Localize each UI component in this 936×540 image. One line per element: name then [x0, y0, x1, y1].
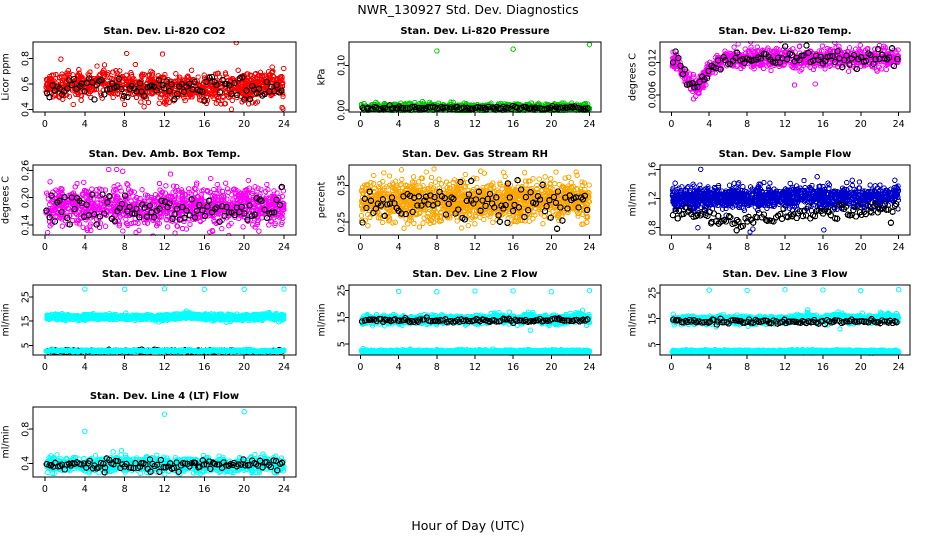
- x-tick-label: 24: [278, 242, 290, 253]
- x-tick-label: 8: [744, 242, 750, 253]
- x-tick-label: 24: [893, 119, 905, 130]
- y-axis-title: ml/min: [628, 183, 639, 216]
- x-tick-label: 12: [779, 119, 791, 130]
- x-tick-label: 12: [158, 242, 170, 253]
- y-tick-label: 0.6: [21, 76, 32, 91]
- x-tick-label: 24: [893, 362, 905, 373]
- x-tick-label: 24: [278, 119, 290, 130]
- x-tick-label: 8: [434, 362, 440, 373]
- x-tick-label: 8: [122, 484, 128, 495]
- panel-title: Stan. Dev. Li-820 Temp.: [718, 26, 851, 37]
- x-tick-label: 16: [817, 119, 829, 130]
- x-tick-label: 8: [744, 362, 750, 373]
- x-tick-label: 0: [42, 119, 48, 130]
- panel-title: Stan. Dev. Line 4 (LT) Flow: [90, 391, 239, 402]
- y-tick-label: 1.6: [648, 162, 659, 177]
- y-axis-title: ml/min: [628, 303, 639, 336]
- x-tick-label: 16: [817, 242, 829, 253]
- panel-title: Stan. Dev. Gas Stream RH: [402, 149, 548, 160]
- x-tick-label: 0: [42, 242, 48, 253]
- x-tick-label: 8: [122, 119, 128, 130]
- y-tick-label: 0.20: [21, 187, 32, 208]
- x-tick-label: 8: [434, 242, 440, 253]
- x-tick-label: 16: [198, 362, 210, 373]
- y-axis-title: kPa: [317, 69, 328, 86]
- x-tick-label: 24: [583, 362, 595, 373]
- y-axis-title: ml/min: [317, 303, 328, 336]
- x-tick-label: 16: [507, 119, 519, 130]
- y-axis: 0.140.200.26: [21, 160, 34, 236]
- y-axis-title: percent: [317, 182, 328, 219]
- x-tick-label: 12: [779, 242, 791, 253]
- x-tick-label: 16: [507, 362, 519, 373]
- panel-title: Stan. Dev. Sample Flow: [719, 149, 852, 160]
- x-tick-label: 4: [706, 242, 712, 253]
- x-tick-label: 24: [278, 484, 290, 495]
- y-tick-label: 0.8: [21, 422, 32, 437]
- y-tick-label: 15: [337, 311, 348, 323]
- x-tick-label: 8: [122, 362, 128, 373]
- y-tick-label: 0.8: [21, 51, 32, 66]
- y-tick-label: 15: [648, 313, 659, 325]
- x-tick-label: 16: [198, 484, 210, 495]
- panel-title: Stan. Dev. Line 3 Flow: [722, 269, 847, 280]
- y-tick-label: 25: [21, 291, 32, 303]
- y-tick-label: 0.10: [337, 55, 348, 76]
- x-tick-label: 0: [357, 362, 363, 373]
- y-axis-title: ml/min: [1, 425, 12, 458]
- y-axis-title: degrees C: [1, 176, 12, 224]
- x-tick-label: 4: [82, 119, 88, 130]
- x-tick-label: 12: [158, 484, 170, 495]
- y-tick-label: 0.8: [648, 220, 659, 235]
- y-tick-label: 0.14: [21, 214, 32, 235]
- x-tick-label: 0: [357, 242, 363, 253]
- y-tick-label: 25: [337, 284, 348, 296]
- y-tick-label: 15: [21, 315, 32, 327]
- x-tick-label: 0: [668, 362, 674, 373]
- y-tick-label: 5: [648, 342, 659, 348]
- x-tick-label: 12: [469, 119, 481, 130]
- panel-title: Stan. Dev. Line 1 Flow: [102, 269, 227, 280]
- x-tick-label: 16: [198, 242, 210, 253]
- x-tick-label: 24: [583, 119, 595, 130]
- panel-title: Stan. Dev. Li-820 Pressure: [400, 26, 550, 37]
- y-tick-label: 0.4: [21, 102, 32, 117]
- x-tick-label: 24: [583, 242, 595, 253]
- x-tick-label: 4: [396, 119, 402, 130]
- diagnostics-figure: NWR_130927 Std. Dev. Diagnostics Stan. D…: [0, 0, 936, 540]
- y-axis: 0.81.21.6: [648, 162, 661, 235]
- y-tick-label: 1.2: [648, 191, 659, 206]
- x-tick-label: 4: [706, 119, 712, 130]
- x-tick-label: 20: [855, 119, 867, 130]
- figure-title: NWR_130927 Std. Dev. Diagnostics: [357, 2, 578, 17]
- x-tick-label: 20: [238, 242, 250, 253]
- x-tick-label: 20: [545, 242, 557, 253]
- x-tick-label: 20: [855, 362, 867, 373]
- x-tick-label: 12: [158, 119, 170, 130]
- y-tick-label: 0.35: [337, 175, 348, 196]
- x-tick-label: 0: [668, 119, 674, 130]
- y-tick-label: 25: [648, 287, 659, 299]
- x-tick-label: 24: [278, 362, 290, 373]
- x-tick-label: 4: [706, 362, 712, 373]
- x-tick-label: 8: [122, 242, 128, 253]
- x-axis-title: Hour of Day (UTC): [411, 518, 524, 533]
- x-tick-label: 12: [158, 362, 170, 373]
- x-tick-label: 4: [396, 362, 402, 373]
- x-tick-label: 4: [396, 242, 402, 253]
- x-tick-label: 20: [855, 242, 867, 253]
- x-tick-label: 12: [469, 242, 481, 253]
- y-axis: 0.40.60.8: [21, 51, 34, 117]
- x-tick-label: 8: [434, 119, 440, 130]
- x-tick-label: 4: [82, 242, 88, 253]
- x-tick-label: 20: [238, 362, 250, 373]
- x-tick-label: 20: [545, 119, 557, 130]
- x-tick-label: 16: [198, 119, 210, 130]
- y-axis-title: degrees C: [628, 53, 639, 101]
- x-tick-label: 16: [817, 362, 829, 373]
- y-tick-label: 0.012: [648, 49, 659, 76]
- panel-title: Stan. Dev. Amb. Box Temp.: [89, 149, 241, 160]
- x-tick-label: 4: [82, 362, 88, 373]
- x-tick-label: 20: [238, 484, 250, 495]
- y-tick-label: 5: [21, 342, 32, 348]
- panel-title: Stan. Dev. Line 2 Flow: [412, 269, 537, 280]
- series-low-band: [670, 347, 901, 355]
- y-tick-label: 0.25: [337, 212, 348, 233]
- x-tick-label: 12: [469, 362, 481, 373]
- x-tick-label: 20: [545, 362, 557, 373]
- x-tick-label: 12: [779, 362, 791, 373]
- x-tick-label: 20: [238, 119, 250, 130]
- x-tick-label: 8: [744, 119, 750, 130]
- x-tick-label: 4: [82, 484, 88, 495]
- y-tick-label: 0.00: [337, 100, 348, 121]
- x-tick-label: 0: [42, 484, 48, 495]
- y-axis-title: Licor ppm: [1, 53, 12, 100]
- x-tick-label: 24: [893, 242, 905, 253]
- y-tick-label: 0.26: [21, 160, 32, 181]
- y-axis-title: ml/min: [1, 303, 12, 336]
- x-tick-label: 0: [668, 242, 674, 253]
- x-tick-label: 0: [357, 119, 363, 130]
- y-tick-label: 0.4: [21, 456, 32, 471]
- x-tick-label: 0: [42, 362, 48, 373]
- panel-title: Stan. Dev. Li-820 CO2: [103, 26, 225, 37]
- x-tick-label: 16: [507, 242, 519, 253]
- y-tick-label: 5: [337, 341, 348, 347]
- y-tick-label: 0.006: [648, 81, 659, 108]
